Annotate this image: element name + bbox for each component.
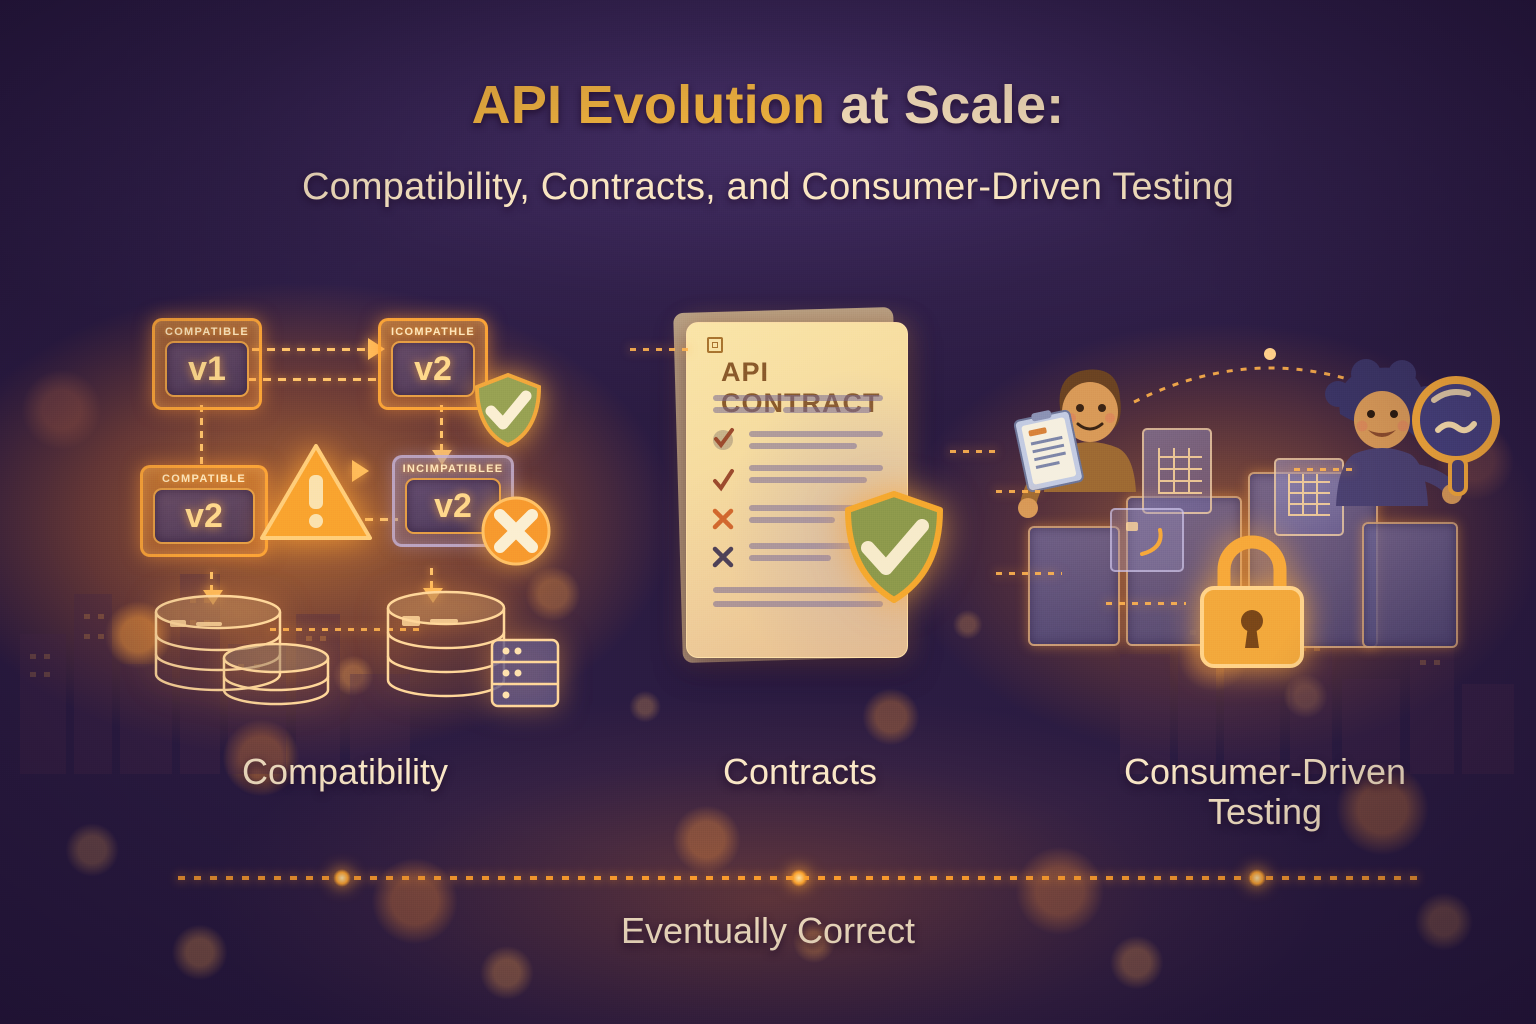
- version-box-label: INCIMPATIBLEE: [395, 458, 511, 478]
- contract-text-line: [749, 477, 867, 483]
- network-line: [950, 450, 996, 453]
- version-box-inner: v1: [165, 341, 249, 397]
- contract-cross-icon: [711, 545, 735, 569]
- version-box-label: COMPATIBLE: [155, 321, 259, 341]
- page-subtitle: Compatibility, Contracts, and Consumer-D…: [0, 166, 1536, 209]
- person-with-clipboard-icon: [1014, 356, 1154, 556]
- version-text: v2: [414, 350, 452, 389]
- title-gold-part: API Evolution: [472, 75, 826, 135]
- section-label-contracts: Contracts: [620, 752, 980, 792]
- contract-text-line: [749, 431, 883, 437]
- testing-panel: [1010, 340, 1510, 690]
- contract-panel: API CONTRACT: [660, 300, 980, 680]
- page-title: API Evolution at Scale:: [0, 74, 1536, 136]
- contract-text-line: [713, 407, 775, 413]
- version-text: v2: [185, 497, 223, 536]
- contract-text-line: [749, 465, 883, 471]
- contract-text-line: [749, 517, 835, 523]
- document-stamp-icon: [707, 337, 723, 353]
- arrow-line-left-vert: [200, 405, 203, 465]
- arrow-line-top-2: [248, 378, 376, 381]
- contract-check-icon: [711, 469, 735, 493]
- contract-text-line: [713, 395, 883, 401]
- database-stack-icon: [148, 592, 348, 710]
- contract-text-line: [749, 555, 831, 561]
- contract-check-icon: [711, 427, 735, 451]
- section-label-line1: Consumer-Driven: [1075, 752, 1455, 792]
- person-with-magnifier-icon: [1310, 354, 1500, 564]
- title-cream-part: at Scale:: [825, 75, 1064, 135]
- version-box-label: COMPATIBLE: [143, 468, 265, 488]
- timeline: [178, 876, 1423, 880]
- section-label-consumer-driven-testing: Consumer-Driven Testing: [1075, 752, 1455, 833]
- version-box-label: ICOMPATHLE: [381, 321, 485, 341]
- contract-text-line: [749, 443, 857, 449]
- timeline-node-contracts[interactable]: [790, 869, 808, 887]
- green-shield-check-icon: [472, 372, 544, 448]
- version-box-compatible-v2[interactable]: COMPATIBLE v2: [140, 465, 268, 557]
- arrow-line-top: [252, 348, 372, 351]
- timeline-node-testing[interactable]: [1248, 869, 1266, 887]
- arrow-line-right-vert: [440, 405, 443, 453]
- timeline-node-compatibility[interactable]: [333, 869, 351, 887]
- database-server-icon: [382, 588, 568, 710]
- contract-text-line: [783, 407, 871, 413]
- contract-text-line: [749, 543, 853, 549]
- shield-check-icon: [842, 490, 946, 604]
- footer-label: Eventually Correct: [0, 910, 1536, 952]
- version-text: v1: [188, 350, 226, 389]
- warning-triangle-icon: [258, 440, 374, 546]
- network-line: [1294, 468, 1354, 471]
- padlock-icon: [1188, 526, 1316, 672]
- version-box-inner: v2: [391, 341, 475, 397]
- title-block: API Evolution at Scale: Compatibility, C…: [0, 74, 1536, 209]
- version-box-compatible-v1[interactable]: COMPATIBLE v1: [152, 318, 262, 410]
- network-line: [996, 490, 1040, 493]
- network-line: [630, 348, 688, 351]
- contract-cross-icon: [711, 507, 735, 531]
- version-box-inner: v2: [153, 488, 255, 544]
- compatibility-panel: COMPATIBLE v1 ICOMPATHLE v2 COMPATIBLE v…: [130, 300, 560, 720]
- section-label-compatibility: Compatibility: [150, 752, 540, 792]
- network-line: [996, 572, 1062, 575]
- version-text: v2: [434, 487, 472, 526]
- network-line: [1106, 602, 1186, 605]
- window-grid: [1158, 448, 1202, 494]
- infographic-canvas: API Evolution at Scale: Compatibility, C…: [0, 0, 1536, 1024]
- orange-circle-x-icon: [480, 495, 552, 567]
- section-label-line2: Testing: [1075, 792, 1455, 832]
